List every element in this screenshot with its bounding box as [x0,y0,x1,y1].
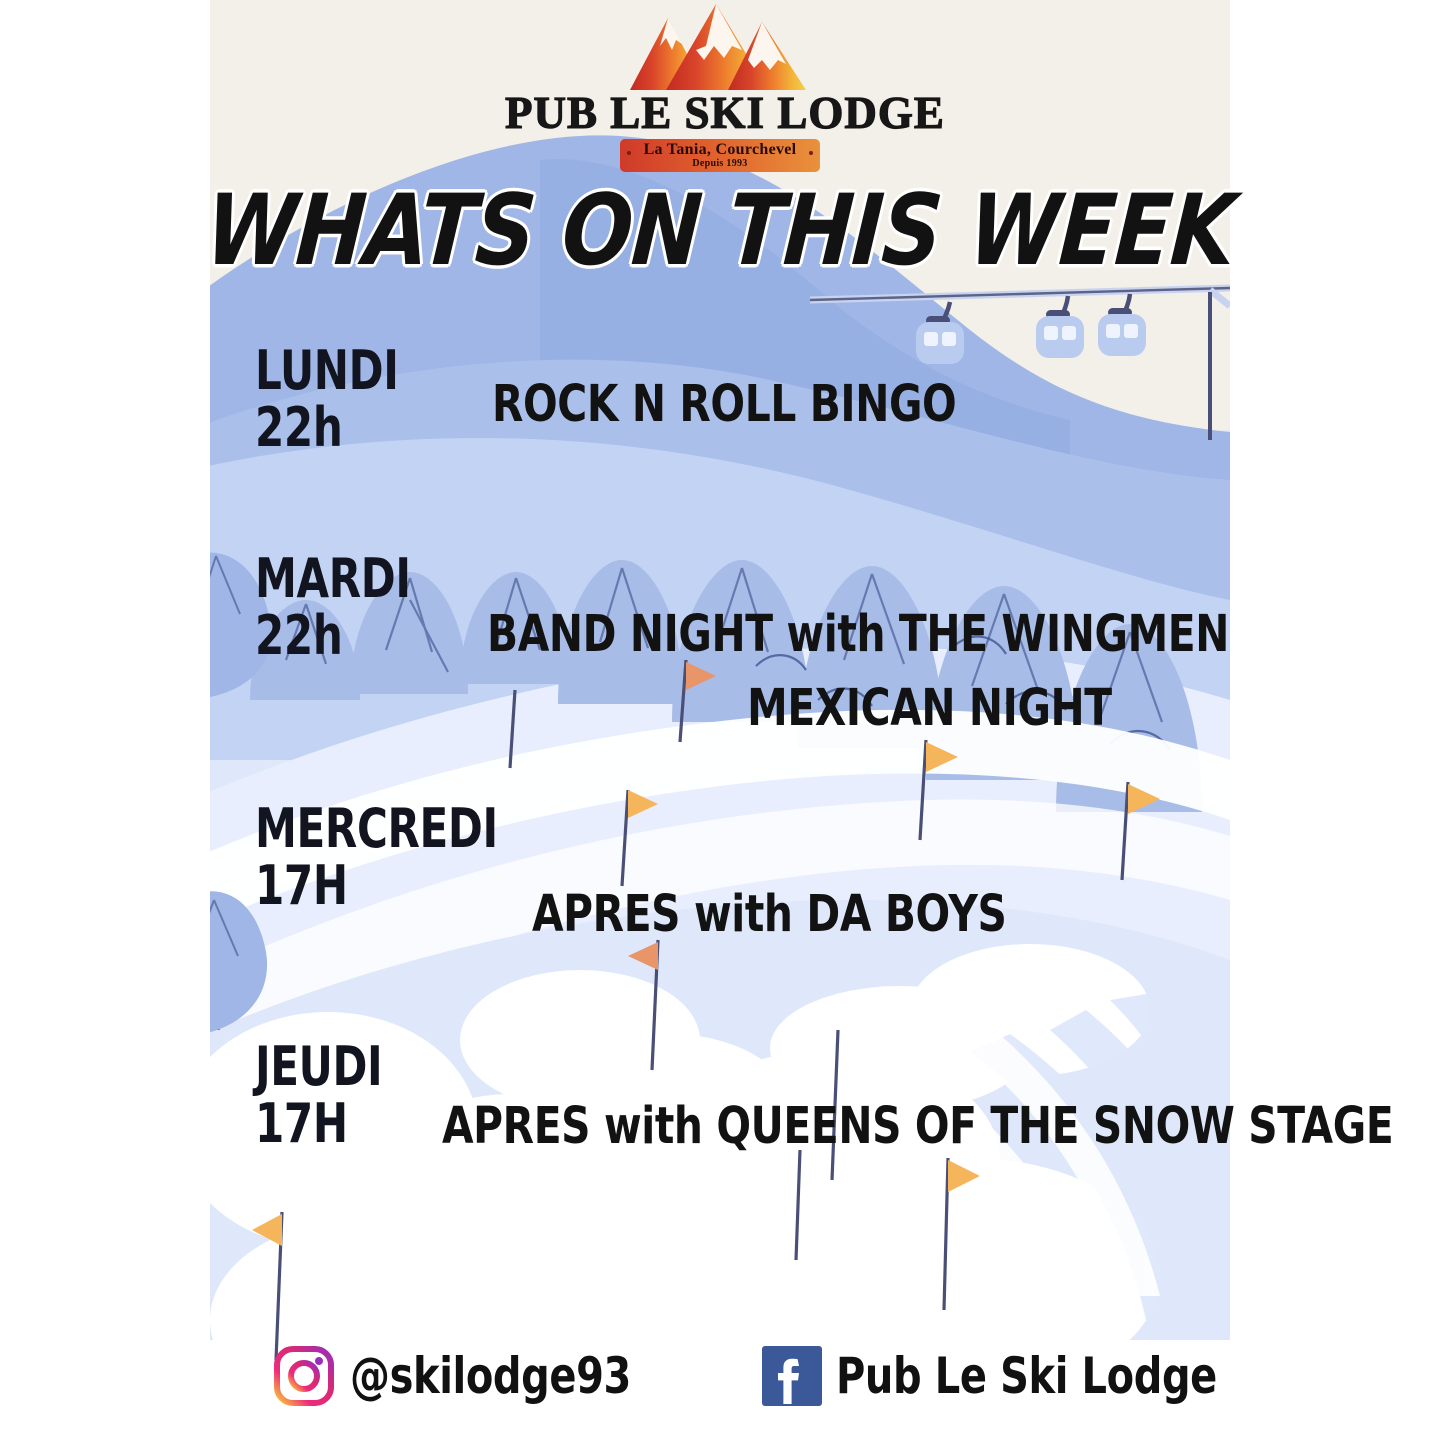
day-time: 22h [255,607,411,664]
event-title-mardi-2: MEXICAN NIGHT [747,682,1112,736]
social-footer: @skilodge93 Pub Le Ski Lodge [210,1330,1230,1435]
day-name: LUNDI [255,342,398,399]
instagram-icon[interactable] [272,1344,336,1408]
day-label-mardi: MARDI 22h [255,550,411,664]
logo-location-text: La Tania, Courchevel [620,141,820,158]
event-title-lundi-1: ROCK N ROLL BINGO [492,378,956,432]
event-title-mercredi-1: APRES with DA BOYS [532,888,1007,942]
day-time: 17H [255,857,498,914]
logo-wordmark: PUB LE SKI LODGE [505,90,935,136]
facebook-icon[interactable] [762,1346,822,1406]
logo-location-banner: La Tania, Courchevel Depuis 1993 [620,139,820,172]
day-label-mercredi: MERCREDI 17H [255,800,498,914]
day-label-lundi: LUNDI 22h [255,342,398,456]
facebook-page-name: Pub Le Ski Lodge [836,1350,1217,1402]
mountain-peaks-icon [620,2,820,94]
event-title-jeudi-1: APRES with QUEENS OF THE SNOW STAGE [442,1100,1393,1154]
instagram-handle: @skilodge93 [350,1350,631,1402]
brand-logo: PUB LE SKI LODGE La Tania, Courchevel De… [505,2,935,172]
day-time: 22h [255,399,398,456]
day-name: MARDI [255,550,411,607]
facebook-link[interactable]: Pub Le Ski Lodge [762,1346,1312,1406]
instagram-link[interactable]: @skilodge93 [272,1344,701,1408]
page-title-text: WHATS ON THIS WEEK [202,180,1238,281]
page-title: WHATS ON THIS WEEK [230,178,1210,284]
logo-since-text: Depuis 1993 [620,158,820,169]
day-time: 17H [255,1095,382,1152]
event-title-mardi-1: BAND NIGHT with THE WINGMEN [487,608,1229,662]
page-margin-left [0,0,210,1440]
day-name: JEUDI [255,1038,382,1095]
poster-root: PUB LE SKI LODGE La Tania, Courchevel De… [0,0,1440,1440]
page-margin-right [1230,0,1440,1440]
day-name: MERCREDI [255,800,498,857]
day-label-jeudi: JEUDI 17H [255,1038,382,1152]
